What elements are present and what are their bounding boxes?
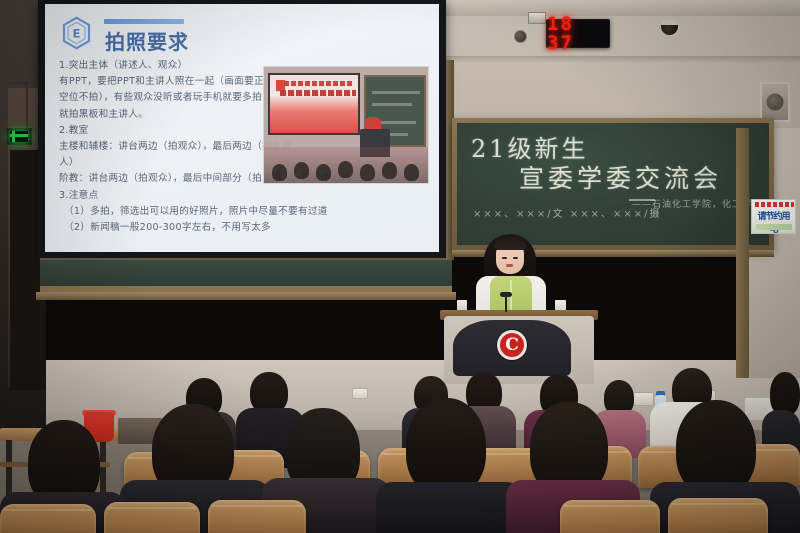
slide-line: 3.注意点 bbox=[59, 188, 427, 204]
embedded-photo-screen bbox=[268, 73, 360, 135]
slide-header: E 拍照要求 bbox=[57, 12, 387, 52]
presenter-bangs bbox=[494, 236, 526, 250]
lecture-seat bbox=[208, 500, 306, 533]
presenter-mouth bbox=[506, 264, 513, 267]
conduit-wire bbox=[10, 82, 28, 84]
lecture-seat bbox=[104, 502, 200, 533]
slide-line: （2）新闻稿一般200-300字左右，不用写太多 bbox=[59, 220, 427, 236]
right-door-frame bbox=[736, 128, 749, 378]
running-person-icon bbox=[10, 131, 28, 142]
front-blackboard-behind-screen bbox=[40, 258, 452, 292]
clock-time: 18 37 bbox=[547, 15, 609, 53]
slide-embedded-photo bbox=[263, 66, 429, 184]
desk-leg bbox=[100, 440, 106, 494]
led-wall-clock: 18 37 bbox=[546, 19, 610, 48]
microphone-stem-icon bbox=[505, 296, 507, 312]
audience-torso bbox=[376, 482, 522, 533]
projection-screen: E 拍照要求 1.突出主体（讲述人、观众） 有PPT，要把PPT和主讲人照在一起… bbox=[38, 0, 446, 262]
logo-letter: E bbox=[73, 26, 81, 40]
desk-leg bbox=[6, 440, 12, 500]
embedded-photo-headline bbox=[284, 81, 354, 86]
slide-line: （1）多拍，筛选出可以用的好照片，照片中尽量不要有过道 bbox=[59, 204, 427, 220]
clock-mount-bracket bbox=[528, 12, 546, 24]
ceiling-speaker-icon bbox=[514, 30, 527, 43]
slide-title: 拍照要求 bbox=[105, 26, 189, 55]
conduit-wire bbox=[26, 82, 28, 130]
lecture-seat bbox=[668, 498, 768, 533]
chalk-tray bbox=[36, 292, 456, 300]
hexagon-e-logo-icon: E bbox=[61, 16, 92, 50]
lecture-hall-photo: E 拍照要求 1.突出主体（讲述人、观众） 有PPT，要把PPT和主讲人照在一起… bbox=[0, 0, 800, 533]
presentation-slide: E 拍照要求 1.突出主体（讲述人、观众） 有PPT，要把PPT和主讲人照在一起… bbox=[45, 4, 439, 252]
lecture-seat bbox=[0, 504, 96, 533]
blackboard-surface: 21级新生 宣委学委交流会 ×××、×××/文 ×××、×××/摄 ——石油化工… bbox=[457, 123, 769, 245]
podium-emblem-letter: C bbox=[505, 337, 519, 354]
wall-speaker-icon bbox=[760, 82, 790, 122]
save-electricity-poster: 请节约用电 bbox=[751, 199, 796, 234]
blackboard-line-2: 宣委学委交流会 bbox=[519, 159, 722, 195]
poster-header-strip bbox=[755, 202, 794, 207]
poster-footer-strip bbox=[756, 224, 792, 230]
front-blackboard: 21级新生 宣委学委交流会 ×××、×××/文 ×××、×××/摄 ——石油化工… bbox=[452, 118, 774, 250]
poster-text: 请节约用电 bbox=[754, 209, 793, 234]
light-switch[interactable] bbox=[352, 388, 368, 399]
slide-title-accent-bar bbox=[104, 19, 184, 24]
microphone-head-icon bbox=[500, 292, 512, 297]
exit-sign bbox=[6, 128, 32, 145]
embedded-photo-audience bbox=[264, 147, 429, 183]
embedded-photo-subline bbox=[280, 90, 356, 96]
lecture-seat bbox=[560, 500, 660, 533]
podium-emblem-icon: C bbox=[497, 330, 527, 360]
presenter bbox=[470, 232, 554, 322]
